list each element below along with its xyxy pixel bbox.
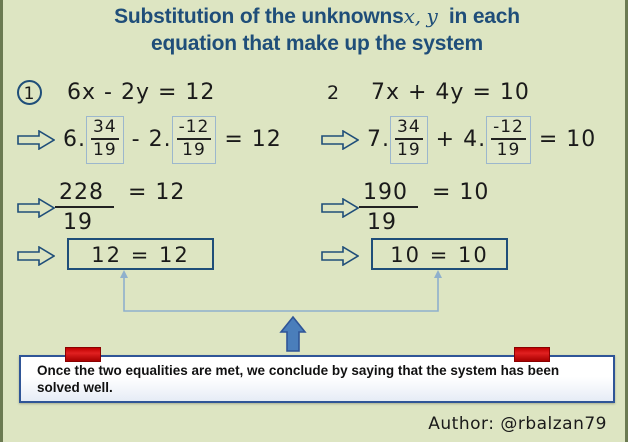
red-marker-right (514, 347, 550, 362)
title-line2: equation that make up the system (151, 32, 483, 55)
simplify-2-fraction: 19019 (359, 180, 418, 235)
fraction-denominator: 19 (395, 140, 423, 160)
author-signature: Author: @rbalzan79 (428, 414, 607, 434)
substitution-1-operator: - 2. (132, 127, 172, 152)
slide-canvas: Substitution of the unknownsx, y in each… (0, 0, 628, 442)
right-block-arrow-icon (17, 130, 55, 150)
fraction-denominator: 19 (177, 140, 212, 160)
simplify-1-equals: = 12 (128, 180, 185, 205)
substitution-1-coefficient: 6. (63, 127, 86, 152)
fraction-denominator: 19 (91, 140, 119, 160)
substitution-1-row: 6.3419 - 2.-1219 = 12 (17, 116, 282, 171)
result-box-1: 12 = 12 (67, 238, 214, 270)
result-box-2: 10 = 10 (371, 238, 508, 270)
fraction-denominator: 19 (359, 208, 418, 235)
simplify-1-fraction: 22819 (55, 180, 114, 235)
right-block-arrow-icon (321, 198, 359, 218)
fraction-box-x-1: 3419 (86, 116, 124, 164)
simplify-2-equals: = 10 (432, 180, 489, 205)
fraction-numerator: -12 (177, 118, 212, 140)
right-block-arrow-icon (17, 246, 55, 266)
equation-2-number: 2 (321, 82, 346, 104)
title-variable-x: x, (404, 4, 421, 28)
equation-2-text: 7x + 4y = 10 (371, 80, 530, 105)
equation-1-text: 6x - 2y = 12 (67, 80, 215, 105)
simplify-1-row: 22819= 12 (17, 180, 185, 232)
equation-column-2: 2 7x + 4y = 10 7.3419 + 4.-1219 = 10 (321, 80, 596, 171)
red-marker-left (65, 347, 101, 362)
connector-bracket (93, 268, 513, 318)
fraction-numerator: -12 (491, 118, 526, 140)
result-1-arrow-wrap (17, 246, 55, 266)
right-block-arrow-icon (321, 246, 359, 266)
fraction-box-y-2: -1219 (486, 116, 531, 164)
simplify-2-row: 19019= 10 (321, 180, 489, 232)
fraction-numerator: 34 (395, 118, 423, 140)
equation-1-number: 1 (17, 80, 42, 105)
substitution-2-coefficient: 7. (367, 127, 390, 152)
title-line1-part2: in each (449, 5, 520, 28)
right-block-arrow-icon (17, 198, 55, 218)
equation-2-row: 2 7x + 4y = 10 (321, 80, 596, 112)
up-arrow-icon (279, 315, 307, 353)
title-line1-part1: Substitution of the unknowns (114, 5, 404, 28)
fraction-denominator: 19 (55, 208, 114, 235)
title-variable-y: y (427, 4, 438, 28)
fraction-box-y-1: -1219 (172, 116, 217, 164)
conclusion-text: Once the two equalities are met, we conc… (21, 357, 613, 396)
fraction-numerator: 34 (91, 118, 119, 140)
equation-1-row: 1 6x - 2y = 12 (17, 80, 282, 112)
fraction-denominator: 19 (491, 140, 526, 160)
result-2-arrow-wrap (321, 246, 359, 266)
fraction-numerator: 228 (55, 180, 114, 208)
right-block-arrow-icon (321, 130, 359, 150)
fraction-numerator: 190 (359, 180, 418, 208)
substitution-2-row: 7.3419 + 4.-1219 = 10 (321, 116, 596, 171)
substitution-1-equals: = 12 (224, 127, 281, 152)
fraction-box-x-2: 3419 (390, 116, 428, 164)
conclusion-box: Once the two equalities are met, we conc… (19, 355, 615, 403)
substitution-2-equals: = 10 (539, 127, 596, 152)
substitution-2-operator: + 4. (436, 127, 486, 152)
page-title: Substitution of the unknownsx, y in each… (33, 3, 601, 57)
equation-column-1: 1 6x - 2y = 12 6.3419 - 2.-1219 = 12 (17, 80, 282, 171)
